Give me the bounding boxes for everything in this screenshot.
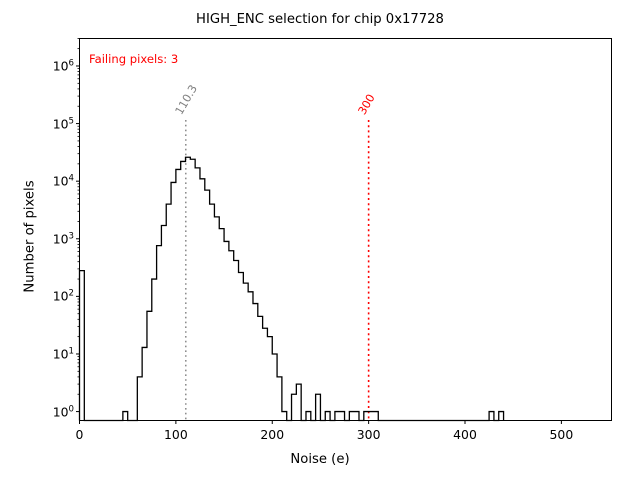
- figure-canvas: HIGH_ENC selection for chip 0x17728 Numb…: [0, 0, 640, 480]
- y-tick-label: 105: [34, 116, 74, 131]
- x-tick-label: 200: [260, 427, 284, 442]
- axes-frame: [80, 39, 612, 421]
- y-tick-label: 100: [34, 404, 74, 419]
- y-tick-label: 104: [34, 174, 74, 189]
- histogram-step-outline: [80, 157, 504, 420]
- x-tick-label: 100: [164, 427, 188, 442]
- x-tick-label: 300: [357, 427, 381, 442]
- x-tick-label: 0: [76, 427, 84, 442]
- y-tick-label: 103: [34, 231, 74, 246]
- x-tick-label: 400: [453, 427, 477, 442]
- y-tick-label: 102: [34, 289, 74, 304]
- y-tick-label: 106: [34, 58, 74, 73]
- x-tick-label: 500: [550, 427, 574, 442]
- y-tick-label: 101: [34, 346, 74, 361]
- plot-area: [0, 0, 640, 480]
